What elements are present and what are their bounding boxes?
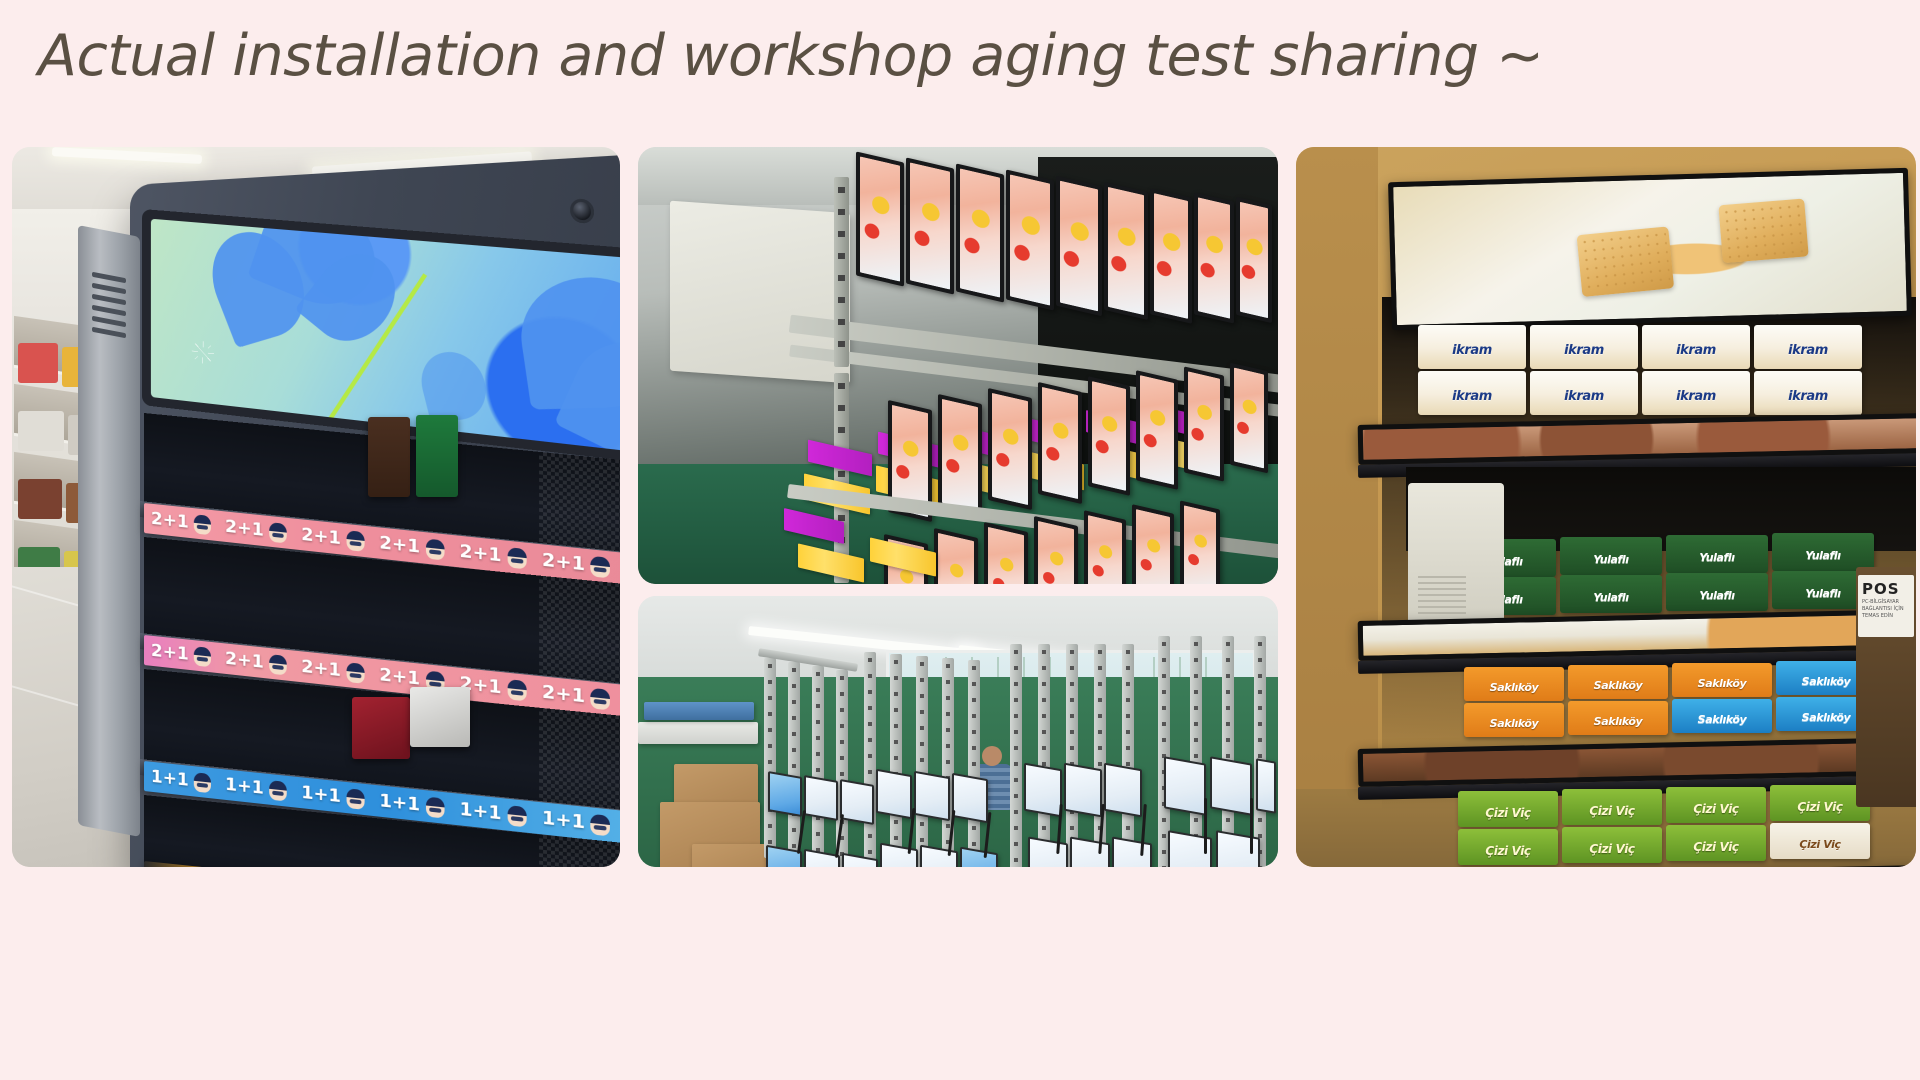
pos-sign-note: PC-BİLGİSAYAR BAĞLANTISI İÇİN TEMAS EDİN (1858, 598, 1914, 620)
brand-label: Saklıköy (1464, 681, 1564, 694)
store-photo: GS25편의점 아뿔싸반값 (12, 147, 620, 867)
smart-gondola-unit[interactable]: 2+1 2+1 2+1 2+1 2+1 2+1 2+1 2+1 (130, 185, 620, 867)
product-pack-yulafli: Yulaflı (1560, 575, 1662, 613)
product-pack-cizi: Çizi Viç (1666, 825, 1766, 861)
test-tablet (768, 771, 802, 817)
mascot-icon (269, 522, 287, 543)
aging-panel (1034, 516, 1078, 584)
product-pack-cizi: Çizi Viç (1458, 791, 1558, 827)
mascot-icon (507, 805, 526, 827)
aging-panel (1056, 176, 1102, 317)
product-pack-saklikoy: Saklıköy (1568, 701, 1668, 735)
lcd-artwork-sparkle (191, 341, 213, 366)
product-pack-cream: Çizi Viç (1770, 823, 1870, 859)
aging-panel (1038, 382, 1082, 504)
mascot-icon (194, 772, 211, 793)
product-pack-blue: Saklıköy (1672, 699, 1772, 733)
mascot-icon (194, 646, 211, 667)
mascot-icon (426, 538, 445, 560)
market-photo: ikram ikram ikram ikram ikram ikram ikra… (1296, 147, 1916, 867)
cardboard-box (692, 844, 768, 867)
product-pack-yulafli: Yulaflı (1560, 537, 1662, 575)
product-pack-ikram: ikram (1642, 371, 1750, 415)
product-pack-saklikoy: Saklıköy (1672, 663, 1772, 697)
aging-panel (1088, 376, 1130, 496)
aging-panel (856, 151, 904, 286)
product-pack-cizi: Çizi Viç (1770, 785, 1870, 821)
aging-panel (938, 394, 982, 516)
mascot-icon (269, 780, 287, 801)
pos-sign: POS PC-BİLGİSAYAR BAĞLANTISI İÇİN TEMAS … (1858, 575, 1914, 637)
aging-panel (1184, 366, 1224, 481)
photo-aging-test-rack[interactable] (638, 147, 1278, 584)
aging-panel (1180, 500, 1220, 584)
blue-mats (644, 702, 754, 720)
digital-screen-hero[interactable] (1388, 168, 1912, 330)
brand-label: ikram (1418, 343, 1526, 358)
test-tablet (914, 771, 950, 821)
aging-panel (1136, 370, 1178, 490)
aging-panel (1104, 182, 1148, 320)
aging-panel (1236, 197, 1272, 323)
product-pack-yulafli: Yulaflı (1666, 535, 1768, 573)
aging-panel (1132, 504, 1174, 584)
test-tablet (952, 773, 988, 823)
product-pack-cizi: Çizi Viç (1666, 787, 1766, 823)
rack-post (834, 177, 849, 367)
test-tablet (1064, 763, 1102, 818)
gondola-vent (88, 265, 130, 369)
product-pack-ikram: ikram (1642, 325, 1750, 369)
product-pack-saklikoy: Saklıköy (1464, 667, 1564, 701)
test-tablet (804, 775, 838, 821)
test-tablet (1164, 756, 1206, 815)
power-cable (1250, 798, 1253, 854)
page-root: Actual installation and workshop aging t… (0, 0, 1920, 1080)
biscuit-gondola: ikram ikram ikram ikram ikram ikram ikra… (1346, 147, 1916, 811)
photo-convenience-store-smart-gondola[interactable]: GS25편의점 아뿔싸반값 (12, 147, 620, 867)
photo-turkish-biscuit-gondola[interactable]: ikram ikram ikram ikram ikram ikram ikra… (1296, 147, 1916, 867)
product-pack-ikram: ikram (1754, 371, 1862, 415)
test-tablet (876, 769, 912, 819)
test-tablet (1104, 763, 1142, 818)
page-title: Actual installation and workshop aging t… (38, 22, 1544, 90)
mascot-icon (346, 662, 364, 684)
product-pack-cizi: Çizi Viç (1562, 827, 1662, 863)
product-pack-yulafli: Yulaflı (1772, 533, 1874, 571)
esl-label: 1+1 (151, 767, 189, 791)
mascot-icon (591, 555, 611, 578)
mascot-icon (591, 687, 611, 710)
product-pack (416, 415, 458, 497)
brand-label: Çizi Viç (1458, 806, 1558, 820)
aging-panel (1006, 169, 1054, 310)
test-tablet (840, 779, 874, 825)
product-pack (410, 687, 470, 747)
worker-head (982, 746, 1002, 766)
workshop-photo (638, 596, 1278, 867)
power-cable (1204, 798, 1207, 854)
mascot-icon (426, 796, 445, 818)
product-pack-ikram: ikram (1754, 325, 1862, 369)
aging-panel (956, 163, 1004, 302)
test-tablet (1024, 763, 1062, 818)
product-pack-ikram: ikram (1530, 325, 1638, 369)
aging-photo (638, 147, 1278, 584)
aging-panel (988, 388, 1032, 510)
mascot-icon (194, 514, 211, 535)
mascot-icon (346, 530, 364, 552)
product-pack-cizi: Çizi Viç (1562, 789, 1662, 825)
product-pack-ikram: ikram (1418, 325, 1526, 369)
mascot-icon (507, 547, 526, 569)
pos-sign-title: POS (1858, 575, 1914, 598)
photo-gallery: GS25편의점 아뿔싸반값 (12, 147, 1908, 867)
cooler-unit (1408, 483, 1504, 633)
aging-panel (934, 528, 978, 584)
product-pack-saklikoy: Saklıköy (1568, 665, 1668, 699)
product-pack (352, 697, 410, 759)
mascot-icon (269, 654, 287, 675)
esl-label: 2+1 (151, 641, 189, 665)
product-pack-ikram: ikram (1418, 371, 1526, 415)
aging-panel (984, 522, 1028, 584)
test-tablet (1210, 756, 1252, 815)
aging-panel (1194, 192, 1234, 323)
test-tablet (1256, 758, 1276, 814)
aging-panel (1230, 363, 1268, 474)
mascot-icon (591, 813, 611, 836)
storage-shelf (638, 722, 758, 744)
product-pack-cizi: Çizi Viç (1458, 829, 1558, 865)
pos-column: POS PC-BİLGİSAYAR BAĞLANTISI İÇİN TEMAS … (1856, 567, 1916, 807)
aging-panel (906, 157, 954, 294)
mascot-icon (346, 788, 364, 810)
aging-panel (1150, 188, 1192, 324)
product-pack-saklikoy: Saklıköy (1464, 703, 1564, 737)
mascot-icon (507, 679, 526, 701)
product-pack-ikram: ikram (1530, 371, 1638, 415)
product-pack-yulafli: Yulaflı (1666, 573, 1768, 611)
aging-panel (1084, 510, 1126, 584)
esl-label: 2+1 (151, 509, 189, 533)
product-pack (368, 417, 410, 497)
photo-workshop-burn-in-racks[interactable] (638, 596, 1278, 867)
